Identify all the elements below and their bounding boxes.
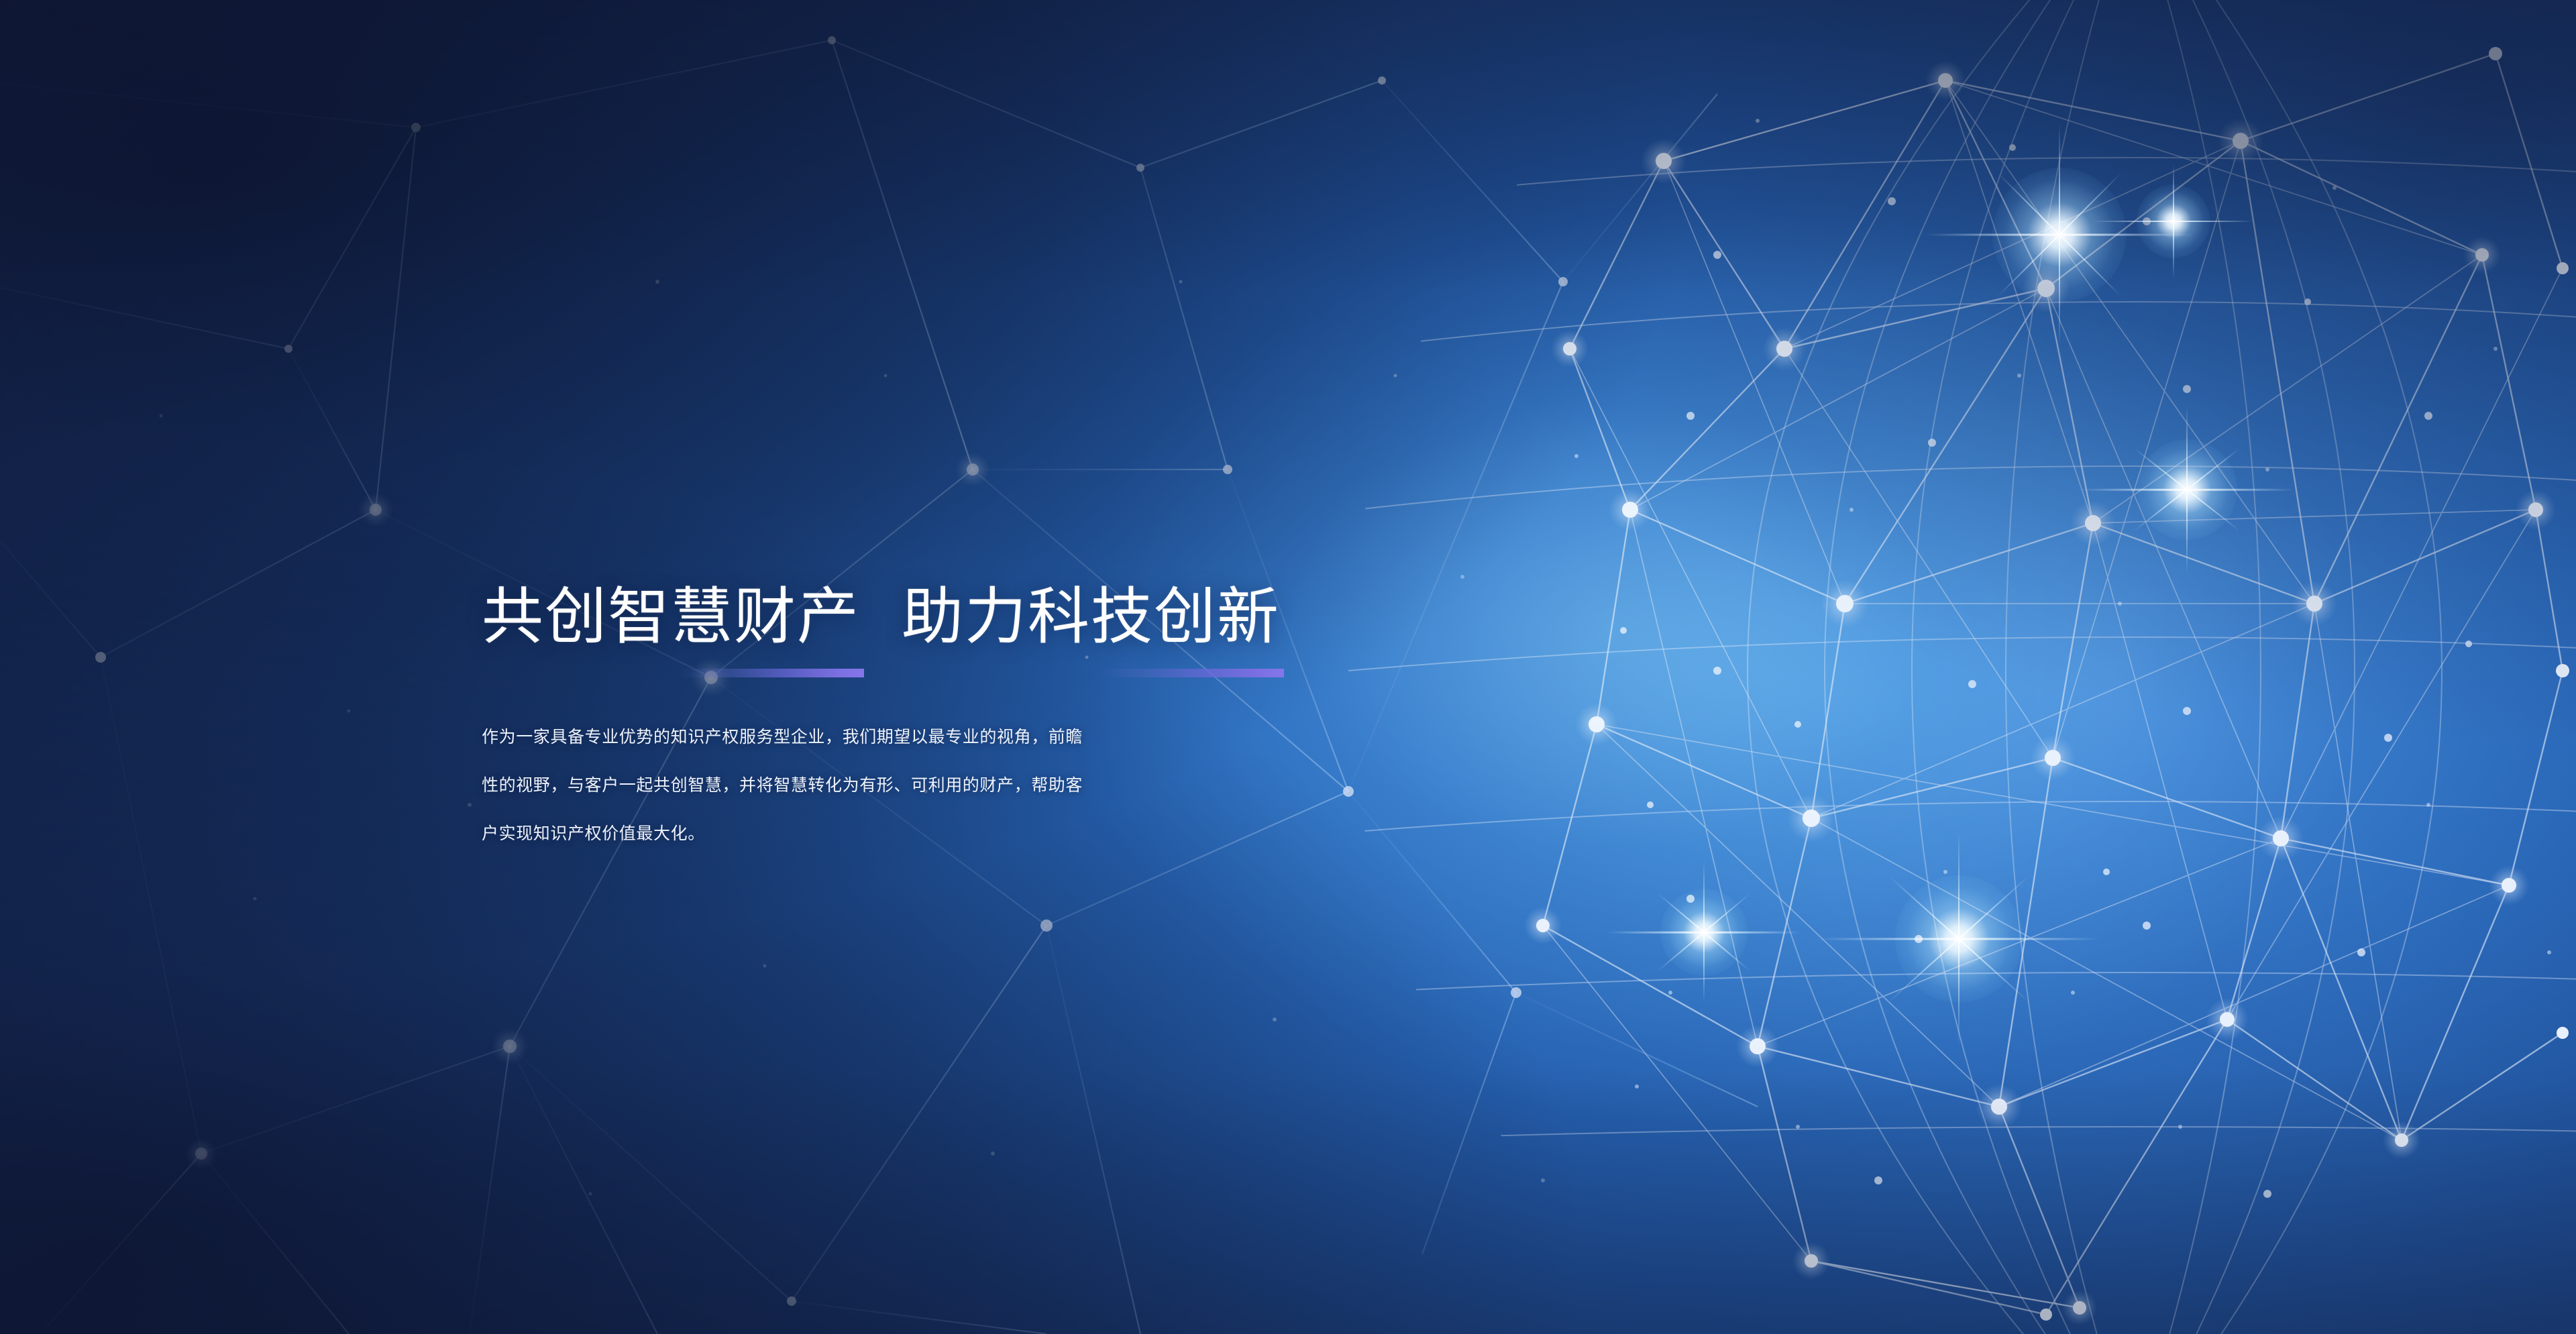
hero-banner: 共创智慧财产助力科技创新 作为一家具备专业优势的知识产权服务型企业，我们期望以最… [0, 0, 2576, 1334]
description-line-3: 户实现知识产权价值最大化。 [482, 810, 1246, 858]
description-line-2: 性的视野，与客户一起共创智慧，并将智慧转化为有形、可利用的财产，帮助客 [482, 761, 1246, 810]
hero-description: 作为一家具备专业优势的知识产权服务型企业，我们期望以最专业的视角，前瞻 性的视野… [482, 713, 1246, 858]
page-title: 共创智慧财产助力科技创新 [482, 586, 1488, 648]
headline-segment-4: 创新 [1154, 586, 1280, 648]
headline-segment-1: 共创智慧 [482, 586, 734, 648]
description-line-1: 作为一家具备专业优势的知识产权服务型企业，我们期望以最专业的视角，前瞻 [482, 713, 1246, 761]
hero-content: 共创智慧财产助力科技创新 作为一家具备专业优势的知识产权服务型企业，我们期望以最… [482, 545, 1488, 875]
headline-segment-2: 财产 [734, 586, 860, 648]
headline-segment-3: 助力科技 [902, 586, 1154, 648]
